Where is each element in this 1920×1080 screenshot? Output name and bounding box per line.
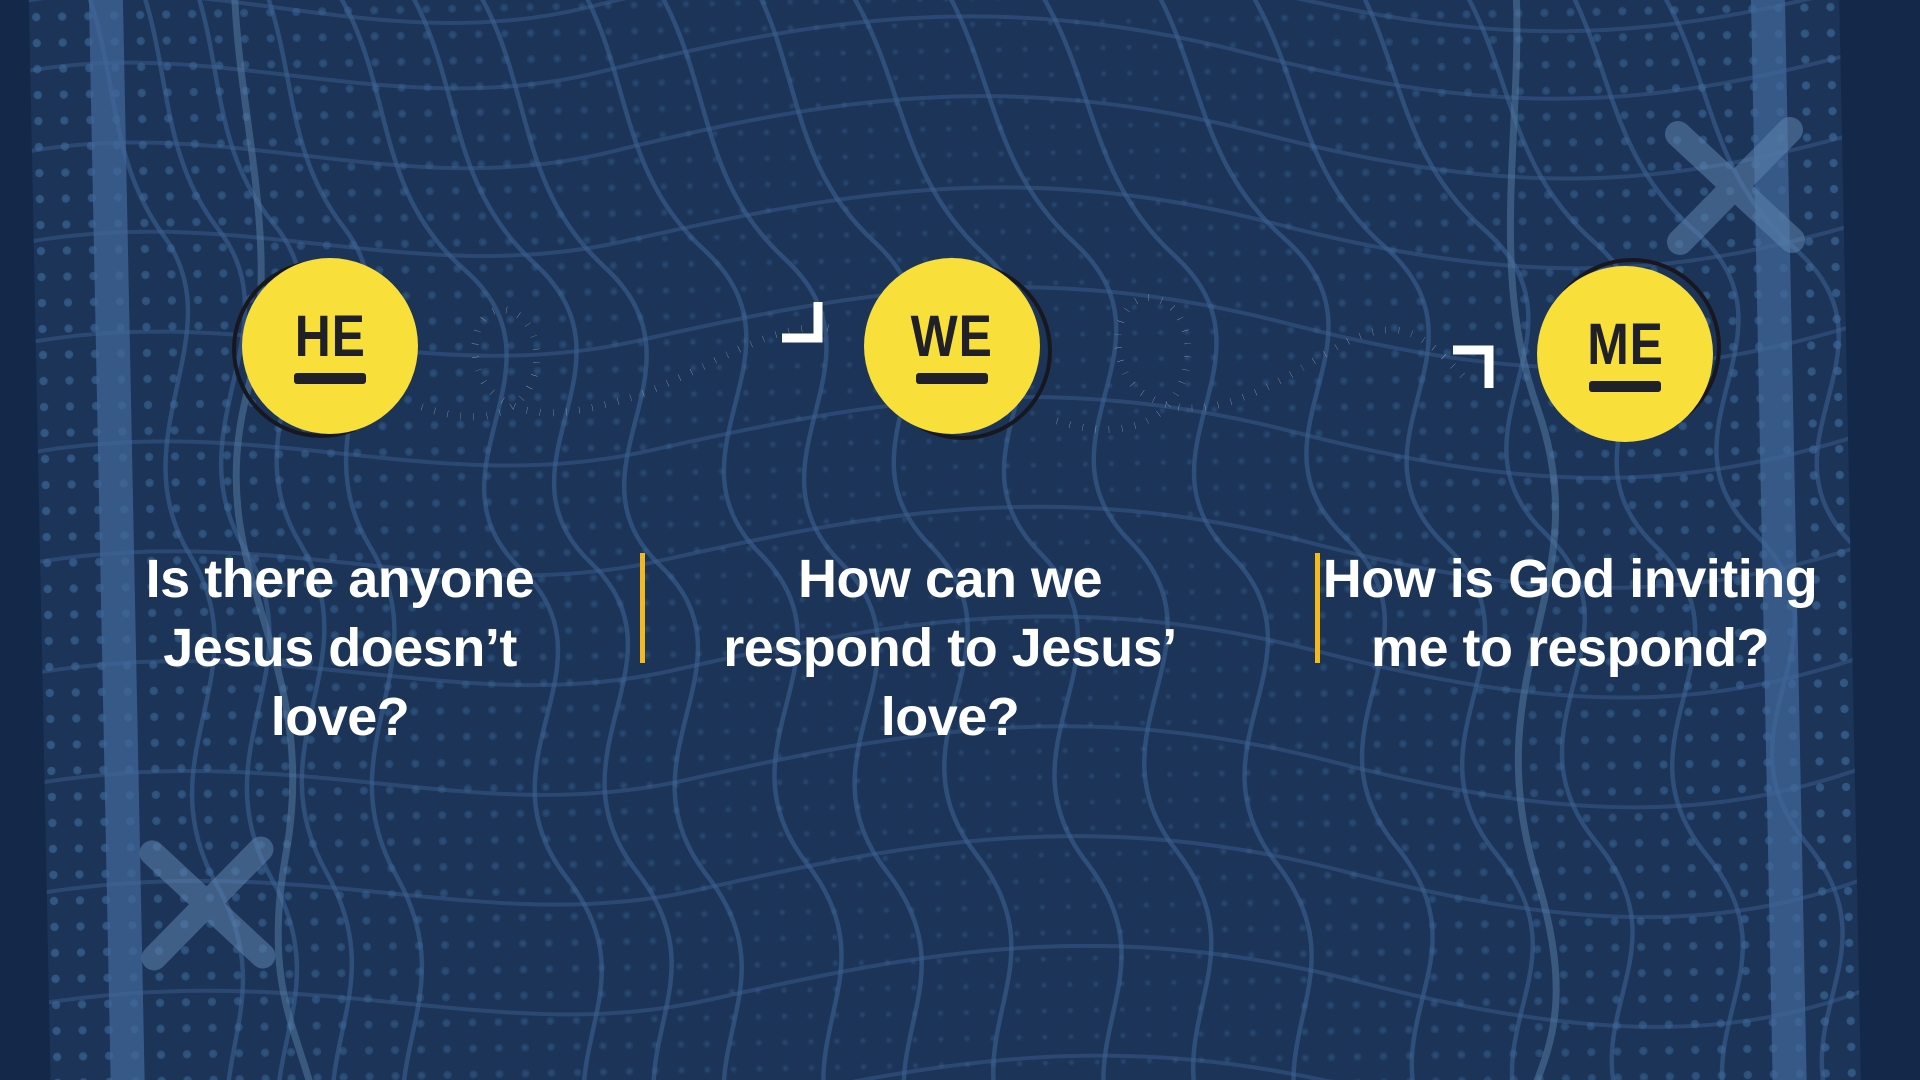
badge-he-underline [294,373,366,384]
badge-we-label: WE [911,308,993,366]
badge-we[interactable]: WE [862,258,1052,448]
badge-me-label: ME [1587,316,1664,374]
arrow-head-icon [782,302,818,338]
slide-canvas: HE WE ME Is there anyone Jesus doesn’t l… [0,0,1920,1080]
badge-we-disc: WE [864,258,1040,434]
caption-he: Is there anyone Jesus doesn’t love? [90,545,590,752]
badge-me-disc: ME [1537,266,1713,442]
badge-we-underline [916,373,988,384]
badge-me[interactable]: ME [1535,262,1725,452]
arrow-path [422,310,830,417]
topographic-contour-lines [28,0,1862,1080]
x-mark-bottom-left-icon [125,820,290,985]
dotted-arrow-we-to-me [1055,278,1525,478]
arrow-head-icon [1453,350,1489,388]
badge-he-label: HE [294,308,365,366]
caption-we: How can we respond to Jesus’ love? [700,545,1200,752]
badge-he-disc: HE [242,258,418,434]
caption-me: How is God inviting me to respond? [1320,545,1820,683]
caption-divider-1 [640,553,645,663]
map-texture-panel [28,0,1862,1080]
caption-row: Is there anyone Jesus doesn’t love? How … [0,545,1920,775]
x-mark-top-right-icon [1650,100,1820,270]
badge-me-underline [1589,381,1661,392]
badge-he[interactable]: HE [230,258,420,448]
arrow-path [1057,298,1469,430]
dotted-arrow-he-to-we [420,280,850,460]
